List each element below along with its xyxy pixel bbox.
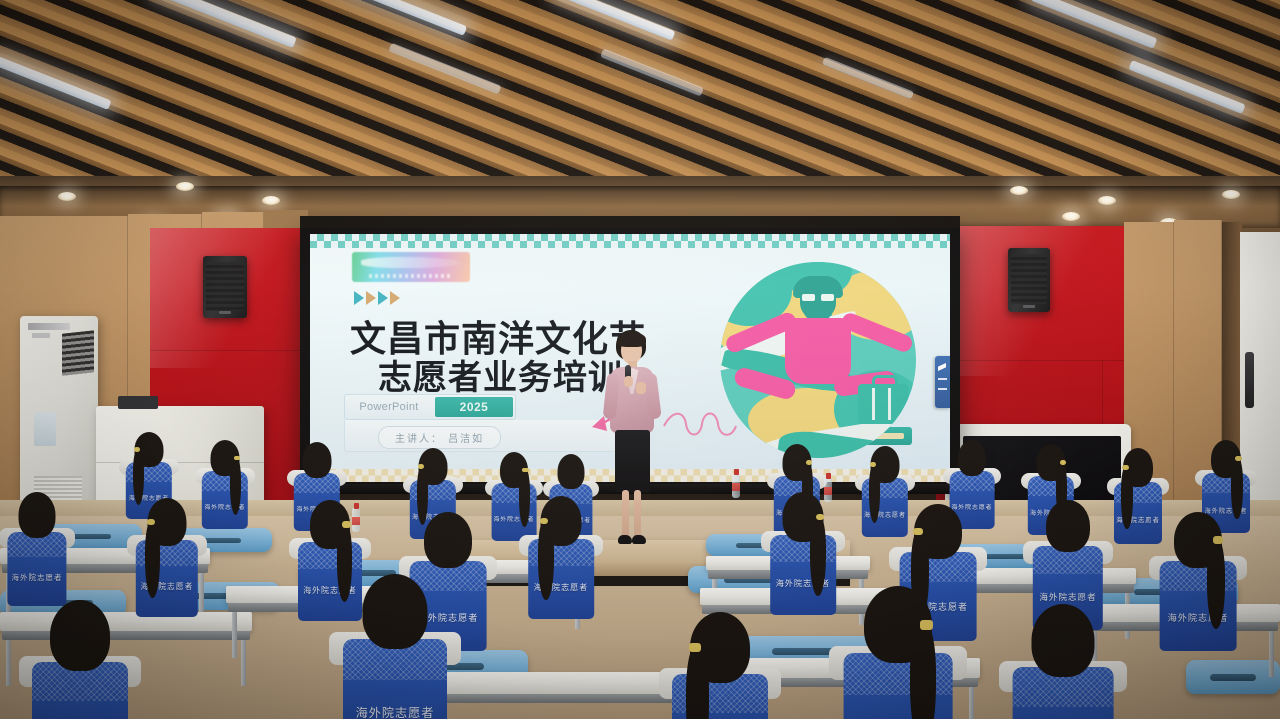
speaker-logo [1023,305,1035,308]
hair-scrunchie [870,462,876,467]
suitcase-stripe [888,388,891,420]
vest-text: 海外院志愿者 [770,578,836,589]
slide-edit-tab[interactable] [935,356,950,408]
hair-scrunchie [689,643,701,652]
chevron-icon [354,291,364,305]
audience-ponytail [810,516,826,596]
logo-glint [361,257,460,267]
audience-member: 海外院志愿者 [20,600,140,719]
vest-text: 海外院志愿者 [343,704,447,719]
hair-scrunchie [816,514,825,520]
nanyang-festival-logo [352,252,470,282]
downlight [1062,212,1080,221]
presenter-speaking [604,330,660,560]
hair-scrunchie [147,519,155,525]
chevron-icon [390,291,400,305]
red-wall-seam [936,360,1124,361]
volunteer-vest: 海外院志愿者 [343,639,447,719]
hair-scrunchie [134,447,140,452]
hair-scrunchie [418,464,424,469]
audience-member: 海外院志愿者 [330,574,460,719]
traveler-on-globe-illustration [720,262,916,458]
traveler-torso [785,318,851,384]
red-wall-seam [150,350,310,351]
hair-scrunchie [913,528,923,535]
classroom-photo-scene: 文昌市南洋文化节 志愿者业务培训 PowerPoint 2025 主讲人： 吕洁… [0,0,1280,719]
audience-head-hair [363,574,428,649]
desk-leg [232,612,237,658]
hair-scrunchie [920,620,933,630]
audience-member: 海外院志愿者 [520,496,602,647]
traveler-suitcase [858,384,908,424]
year-badge: 2025 [435,397,513,417]
audience-member: 海外院志愿者 [1000,604,1126,719]
water-bottle[interactable] [352,508,360,532]
hair-scrunchie [806,460,812,465]
presenter-hand-right [636,382,646,394]
wood-slat-ceiling [0,0,1280,196]
tab-line [938,378,947,380]
presenter-leg-right [634,490,641,538]
audience-ponytail [1207,539,1225,629]
ceiling-slats [0,0,1280,196]
software-label: PowerPoint [345,401,433,413]
audience-ponytail [910,623,936,719]
downlight [1098,196,1116,205]
vest-text: 海外院志愿者 [1160,610,1237,624]
volunteer-vest: 海外院志愿者 [844,653,953,719]
presenter-hand-left [624,376,633,387]
hair-scrunchie [342,521,350,527]
hair-scrunchie [234,456,240,461]
audience-head-hair [50,600,110,671]
chevron-icon [378,291,388,305]
speaker-logo [219,311,231,314]
suitcase-stripe [872,388,875,420]
ac-sub-label [32,333,50,338]
pen-edit-icon[interactable] [938,363,946,371]
desk-leg [969,687,974,719]
presenter-shoe-right [632,535,646,544]
hair-scrunchie [540,518,549,524]
volunteer-vest: 海外院志愿者 [7,532,66,606]
wall-speaker-left [203,256,247,318]
hair-scrunchie [1213,536,1223,543]
hair-scrunchie [522,468,528,473]
ac-control-panel[interactable] [34,412,56,446]
audience-head-hair [1046,500,1090,552]
audience-ponytail [538,520,554,600]
water-bottle[interactable] [824,478,832,502]
audience-member: 海外院志愿者 [660,612,780,719]
slide-checker-top-border [310,234,950,248]
audience-ponytail [145,521,160,598]
wall-speaker-right [1008,248,1050,312]
slide-meta-row: PowerPoint 2025 [344,394,516,420]
vest-text: 海外院志愿者 [136,581,198,592]
chevron-icon [366,291,376,305]
bottle-label [732,483,740,491]
audience-ponytail [1231,458,1242,519]
vest-text: 海外院志愿者 [7,572,66,583]
water-bottle[interactable] [732,474,740,498]
downlight [262,196,280,205]
audience-member: 海外院志愿者 [830,586,966,719]
tab-line [938,388,947,390]
audience-head-hair [958,440,986,476]
audience-head-hair [19,492,56,538]
hair-scrunchie [1060,460,1066,465]
traveler-glasses [802,294,815,301]
presenter-leg-left [622,490,629,538]
speaker-grill [206,262,245,310]
bottle-label [352,517,360,525]
audience-ponytail [133,449,144,505]
chevron-decoration [354,291,400,305]
presenter-hair-top [617,332,646,347]
audience-head-hair [424,512,472,568]
audience-member: 海外院志愿者 [1150,512,1246,683]
speaker-grill [1011,254,1048,304]
vest-text: 海外院志愿者 [1033,591,1103,603]
vest-text: 海外院志愿者 [202,502,248,511]
ac-vent-louvers [62,330,94,375]
bottle-label [824,487,832,495]
ac-brand-label [28,323,70,330]
audience-ponytail [686,646,709,719]
audience-head-hair [1032,604,1095,677]
speaker-name-label: 主讲人： 吕洁如 [378,426,501,449]
floor-standing-air-conditioner [20,316,98,508]
presenter-skirt [615,430,650,492]
presenter-shoe-left [618,535,632,544]
volunteer-vest: 海外院志愿者 [202,471,248,529]
desk-leg [1269,631,1274,677]
traveler-head [791,276,845,322]
downlight [58,192,76,201]
hair-scrunchie [1235,456,1242,461]
desk-leg [6,640,11,686]
vest-text: 海外院志愿者 [528,582,594,593]
door-handle-icon[interactable] [1245,352,1254,408]
traveler-glasses [821,294,834,301]
audience-ponytail [869,464,880,523]
desk-leg [241,640,246,686]
downlight [1010,186,1028,195]
downlight [1222,190,1240,199]
audience-head-hair [303,442,332,478]
cabinet-top-device [118,396,158,409]
hair-scrunchie [1122,465,1129,470]
audience-head-hair [558,454,585,489]
downlight [176,182,194,191]
logo-subtitle-bar [369,274,452,279]
audience-ponytail [1121,466,1132,528]
